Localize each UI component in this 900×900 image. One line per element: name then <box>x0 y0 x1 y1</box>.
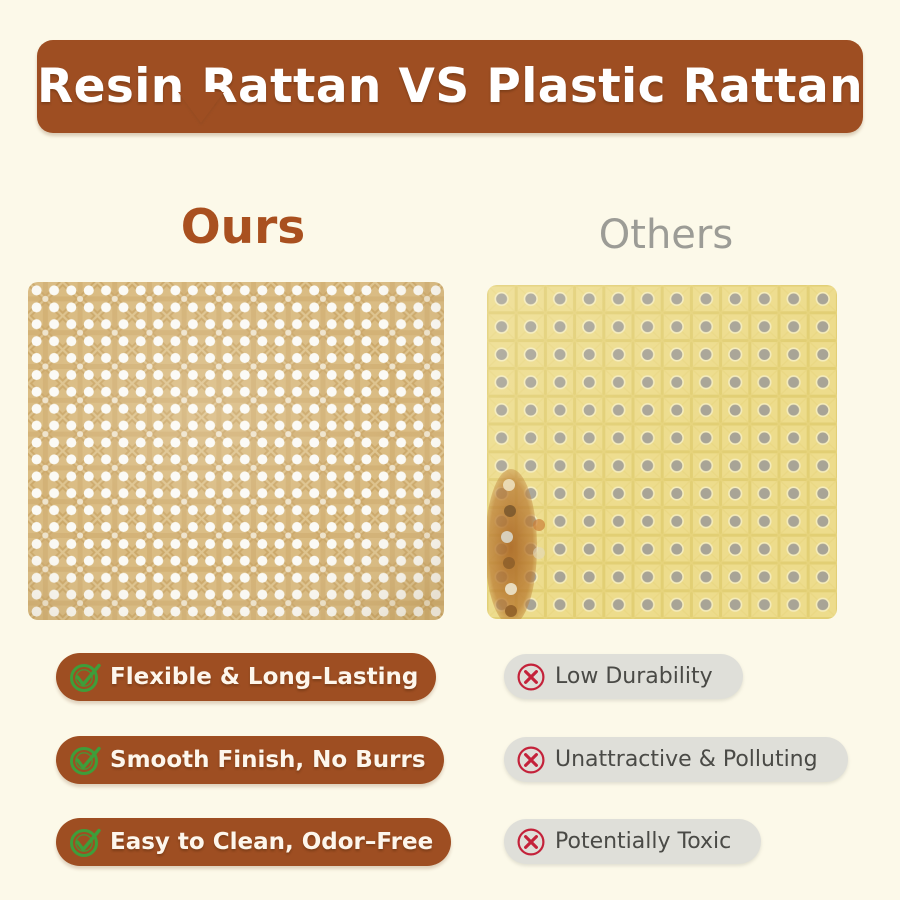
feature-pill-others-2[interactable]: Unattractive & Polluting <box>504 737 848 782</box>
feature-label: Unattractive & Polluting <box>555 747 818 772</box>
cross-circle-icon <box>516 662 546 692</box>
cross-circle-icon <box>516 827 546 857</box>
column-heading-others: Others <box>590 212 742 258</box>
page-title: Resin Rattan VS Plastic Rattan <box>37 59 863 114</box>
title-banner-body: Resin Rattan VS Plastic Rattan <box>37 40 863 133</box>
feature-pill-ours-2[interactable]: Smooth Finish, No Burrs <box>56 736 444 784</box>
check-circle-icon <box>68 743 102 777</box>
feature-label: Easy to Clean, Odor–Free <box>110 829 433 855</box>
feature-pill-others-3[interactable]: Potentially Toxic <box>504 819 761 864</box>
column-heading-ours: Ours <box>172 200 314 255</box>
feature-label: Smooth Finish, No Burrs <box>110 747 426 773</box>
product-image-ours <box>28 282 444 620</box>
product-image-others <box>487 285 837 619</box>
banner-pointer-tail <box>178 92 224 123</box>
title-banner: Resin Rattan VS Plastic Rattan <box>37 40 863 133</box>
plastic-rattan-graphic <box>487 285 837 619</box>
feature-pill-others-1[interactable]: Low Durability <box>504 654 743 699</box>
check-circle-icon <box>68 825 102 859</box>
check-circle-icon <box>68 660 102 694</box>
feature-label: Potentially Toxic <box>555 829 731 854</box>
feature-pill-ours-1[interactable]: Flexible & Long–Lasting <box>56 653 436 701</box>
feature-pill-ours-3[interactable]: Easy to Clean, Odor–Free <box>56 818 451 866</box>
feature-label: Flexible & Long–Lasting <box>110 664 418 690</box>
cross-circle-icon <box>516 745 546 775</box>
feature-label: Low Durability <box>555 664 713 689</box>
rattan-weave-graphic <box>28 282 444 620</box>
